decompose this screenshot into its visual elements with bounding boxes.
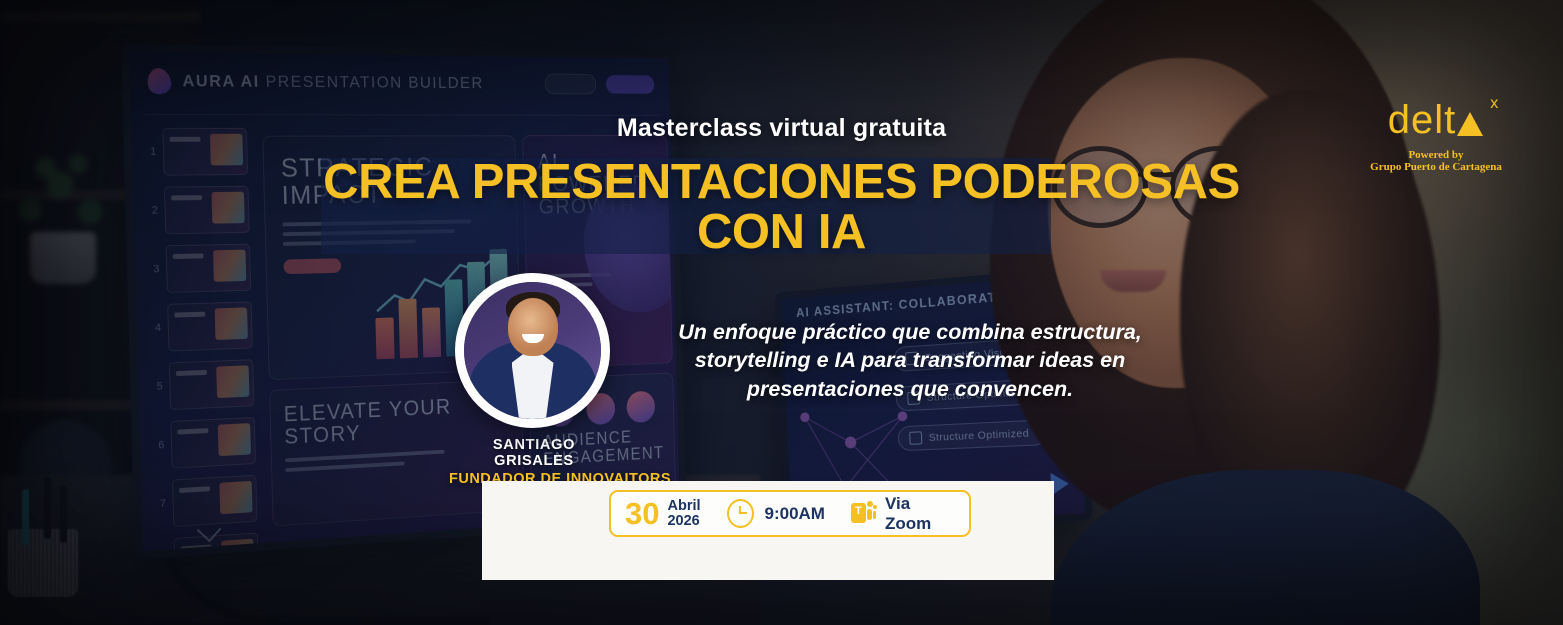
event-details-pill: 30 Abril 2026 9:00AM Via Zoom bbox=[609, 490, 971, 537]
logo-text: delt bbox=[1388, 98, 1457, 142]
logo-superscript: x bbox=[1490, 96, 1499, 112]
brand-logo: deltx Powered by Grupo Puerto de Cartage… bbox=[1356, 100, 1516, 173]
avatar bbox=[455, 273, 610, 428]
event-year: 2026 bbox=[667, 514, 700, 529]
speaker-block: SANTIAGO GRISALES FUNDADOR DE INNOVAITOR… bbox=[455, 273, 613, 487]
speaker-name: SANTIAGO GRISALES bbox=[455, 437, 613, 469]
delta-triangle-icon bbox=[1457, 112, 1483, 136]
headline-line-2: CON IA bbox=[0, 207, 1563, 257]
clock-icon bbox=[727, 499, 754, 528]
event-month: Abril bbox=[667, 499, 700, 514]
subtitle-text: Un enfoque práctico que combina estructu… bbox=[660, 318, 1160, 403]
event-day: 30 bbox=[625, 498, 659, 529]
logo-powered-by: Powered by bbox=[1356, 149, 1516, 161]
event-month-year: Abril 2026 bbox=[667, 499, 700, 529]
promotional-banner: AURA AI PRESENTATION BUILDER 1 2 bbox=[0, 0, 1563, 625]
event-info-card: 30 Abril 2026 9:00AM Via Zoom bbox=[482, 481, 1054, 580]
teams-icon bbox=[851, 501, 874, 526]
headline-line-1: CREA PRESENTACIONES PODEROSAS bbox=[323, 155, 1240, 209]
page-title: CREA PRESENTACIONES PODEROSAS CON IA bbox=[0, 157, 1563, 258]
content-overlay: Masterclass virtual gratuita CREA PRESEN… bbox=[0, 0, 1563, 625]
kicker-text: Masterclass virtual gratuita bbox=[0, 114, 1563, 143]
logo-company: Grupo Puerto de Cartagena bbox=[1356, 161, 1516, 173]
logo-wordmark: deltx bbox=[1388, 100, 1485, 140]
event-venue: Via Zoom bbox=[885, 494, 955, 534]
event-time: 9:00AM bbox=[765, 504, 825, 524]
